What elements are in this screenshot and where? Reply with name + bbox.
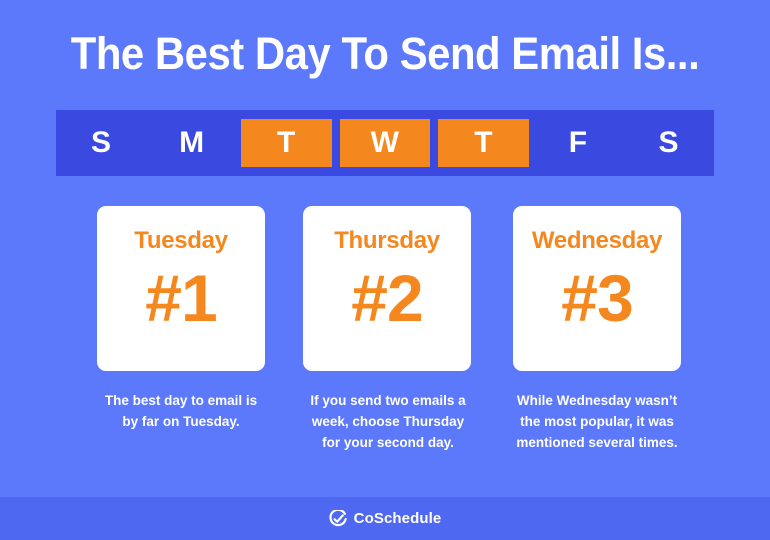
check-circle-icon [329, 510, 347, 528]
rank-card-caption: If you send two emails a week, choose Th… [285, 390, 491, 453]
infographic-poster: The Best Day To Send Email Is... S M T W… [0, 0, 770, 540]
day-cell-tuesday: T [241, 119, 332, 167]
day-cell-saturday: S [623, 119, 714, 167]
rank-card: Thursday #2 [303, 206, 471, 371]
rank-card-rank: #2 [303, 262, 471, 334]
day-cell-wednesday: W [340, 119, 431, 167]
rank-card-caption: The best day to email is by far on Tuesd… [78, 390, 284, 432]
day-cell-thursday: T [438, 119, 529, 167]
rank-card-rank: #1 [97, 262, 265, 334]
rank-card-caption: While Wednesday wasn’t the most popular,… [494, 390, 700, 453]
brand-name: CoSchedule [354, 510, 442, 527]
rank-card-day: Wednesday [499, 227, 695, 255]
day-cell-friday: F [533, 119, 624, 167]
day-cell-sunday: S [56, 119, 147, 167]
footer-band: CoSchedule [0, 497, 770, 540]
rank-card: Wednesday #3 [513, 206, 681, 371]
day-cell-monday: M [147, 119, 238, 167]
rank-card-day: Tuesday [83, 227, 279, 255]
page-title: The Best Day To Send Email Is... [27, 28, 743, 80]
rank-card-day: Thursday [289, 227, 485, 255]
brand-logo: CoSchedule [329, 510, 442, 528]
rank-card-rank: #3 [513, 262, 681, 334]
weekday-strip: S M T W T F S [56, 110, 714, 176]
rank-card: Tuesday #1 [97, 206, 265, 371]
